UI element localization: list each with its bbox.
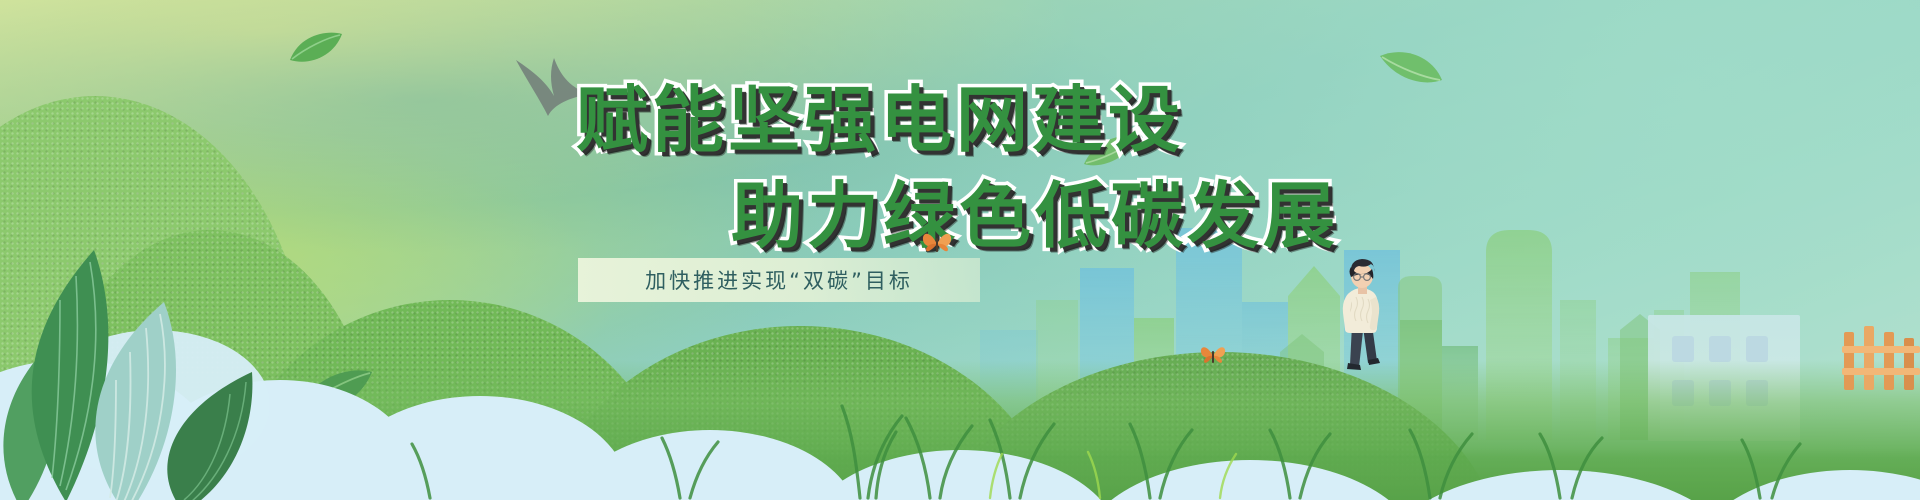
walking-person-illustration <box>1332 253 1394 371</box>
wooden-fence-icon <box>1842 322 1920 392</box>
subtitle-text: 加快推进实现“双碳”目标 <box>578 258 980 302</box>
butterfly-icon <box>920 228 954 258</box>
grass-tufts <box>0 320 1920 500</box>
headline-line-1: 赋能坚强电网建设 <box>0 72 1920 168</box>
floating-leaf-icon <box>288 30 344 66</box>
butterfly-icon <box>1198 342 1228 368</box>
foreground-leaf-teal <box>60 300 200 500</box>
headline-line-2: 助力绿色低碳发展 <box>0 168 1920 264</box>
headline-block: 赋能坚强电网建设 助力绿色低碳发展 <box>0 72 1920 264</box>
eco-power-grid-banner: 赋能坚强电网建设 助力绿色低碳发展 加快推进实现“双碳”目标 <box>0 0 1920 500</box>
